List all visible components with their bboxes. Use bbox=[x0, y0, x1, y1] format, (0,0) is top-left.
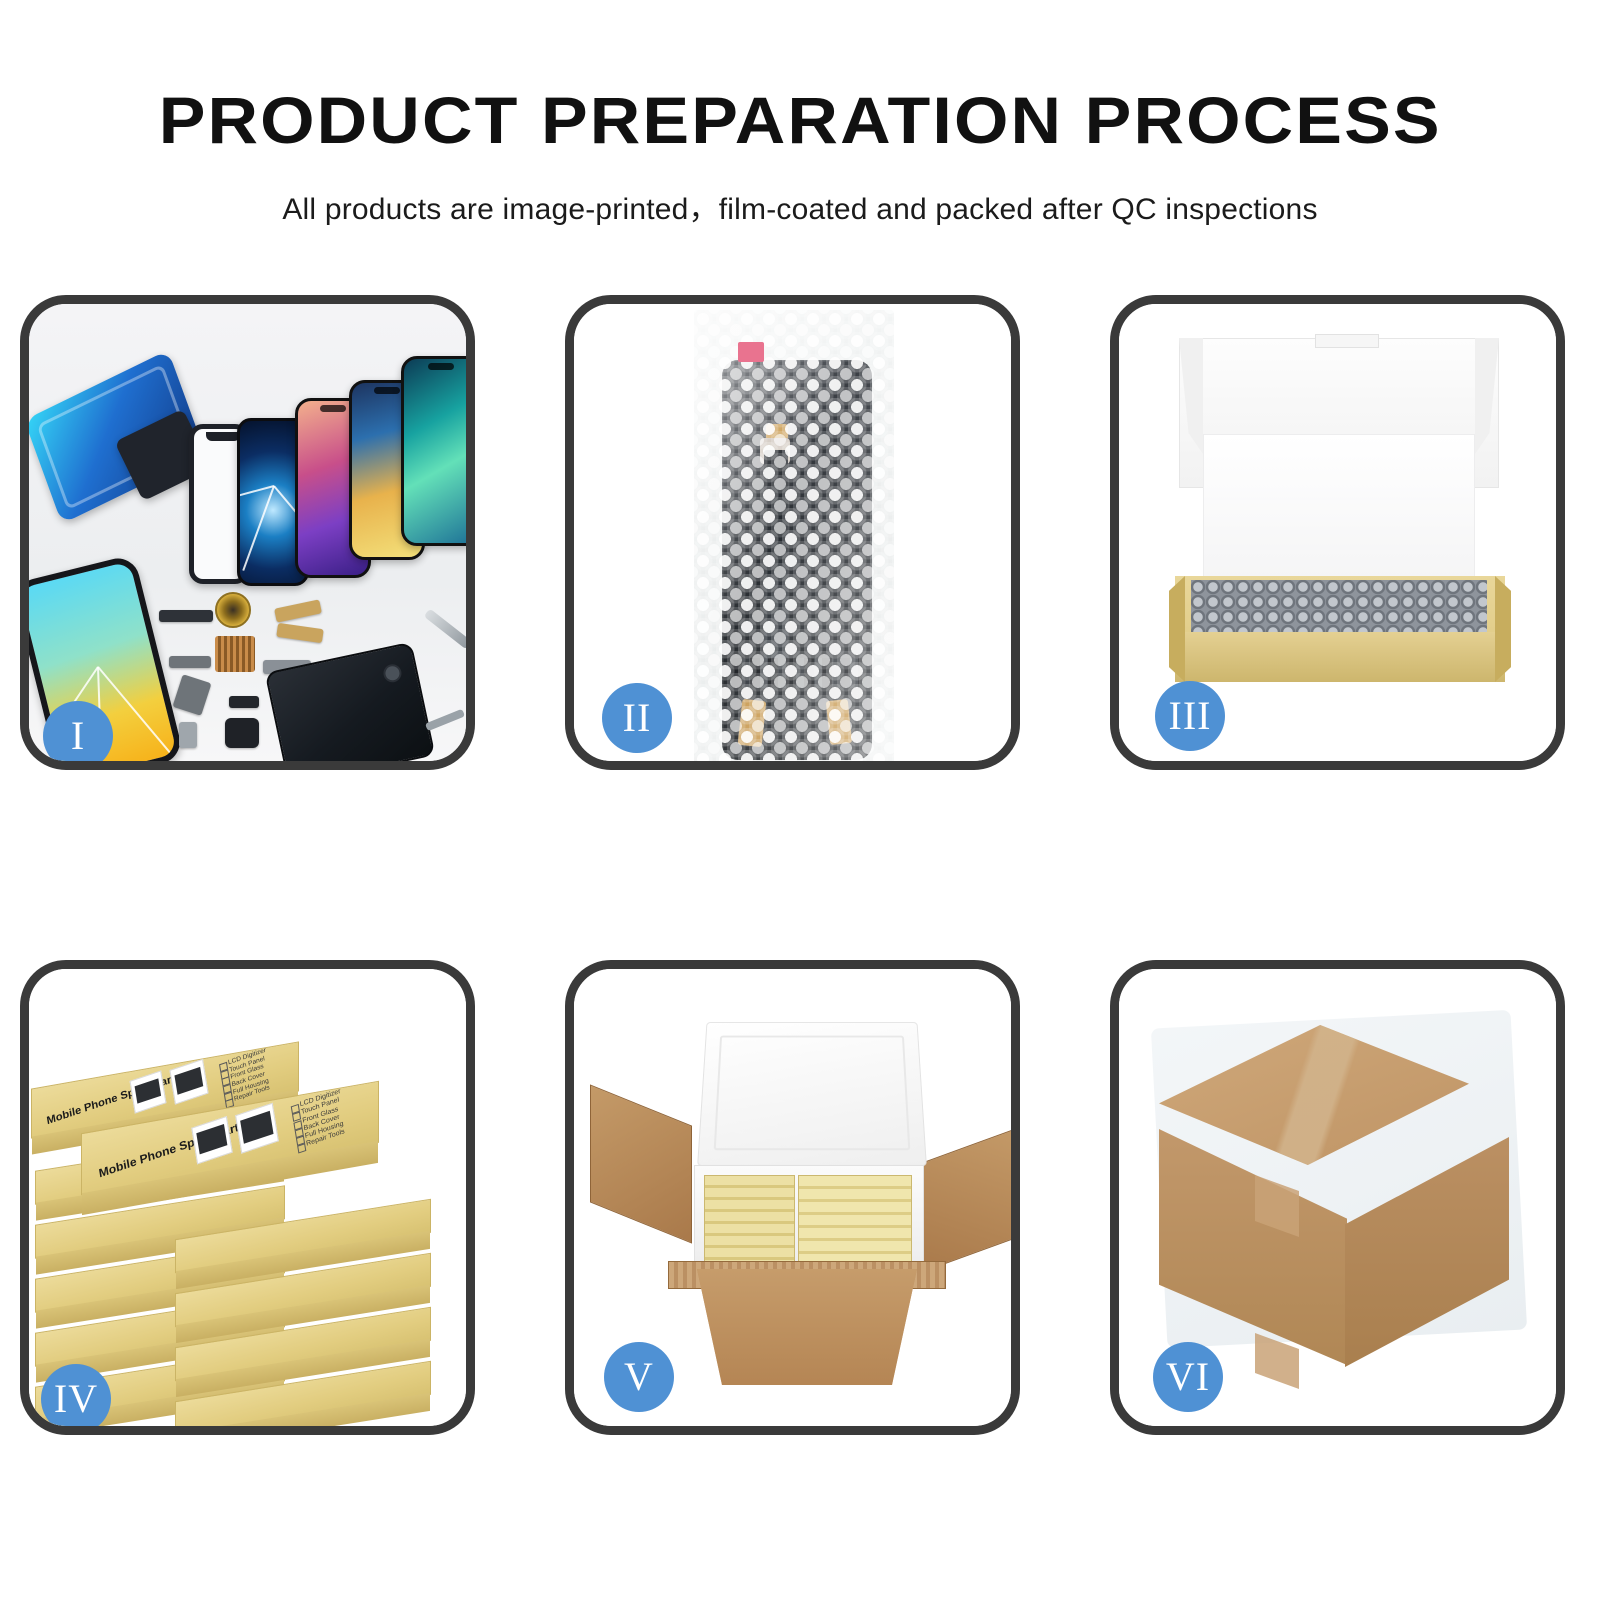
bubble-wrap-package bbox=[694, 310, 894, 761]
step-badge-3: III bbox=[1155, 681, 1225, 751]
step-panel-5[interactable]: V bbox=[565, 960, 1020, 1435]
foam-box-lid bbox=[697, 1022, 927, 1166]
pink-label-tab bbox=[738, 342, 764, 362]
step-badge-6: VI bbox=[1153, 1342, 1223, 1412]
step-1-image bbox=[29, 304, 466, 761]
step-panel-6[interactable]: VI bbox=[1110, 960, 1565, 1435]
step-panel-4[interactable]: Mobile Phone Spare Parts LCD Digitizer T… bbox=[20, 960, 475, 1435]
box-checklist-2: LCD Digitizer Touch Panel Front Glass Ba… bbox=[290, 1088, 347, 1152]
wireless-charging-coil-part bbox=[215, 592, 251, 628]
page-header: PRODUCT PREPARATION PROCESS All products… bbox=[0, 0, 1600, 250]
step-panel-2[interactable]: II bbox=[565, 295, 1020, 770]
green-gradient-phone-display bbox=[401, 356, 466, 546]
gold-box-left-edge bbox=[1169, 576, 1185, 682]
step-badge-1: I bbox=[43, 701, 113, 770]
process-row-bottom: Mobile Phone Spare Parts LCD Digitizer T… bbox=[20, 960, 1580, 1435]
earpiece-mesh-part bbox=[159, 610, 213, 622]
page-title: PRODUCT PREPARATION PROCESS bbox=[159, 82, 1442, 158]
grey-bubble-wrap-fill bbox=[1191, 580, 1487, 636]
gold-box-right-edge bbox=[1495, 576, 1511, 682]
box-thumbnail-2b bbox=[235, 1103, 279, 1154]
step-badge-5: V bbox=[604, 1342, 674, 1412]
white-foam-sheet bbox=[1203, 434, 1475, 594]
step-4-image: Mobile Phone Spare Parts LCD Digitizer T… bbox=[29, 969, 466, 1426]
box-thumbnail-1b bbox=[169, 1059, 208, 1105]
step-badge-2: II bbox=[602, 683, 672, 753]
box-thumbnail-2a bbox=[191, 1116, 233, 1164]
connector-part-a bbox=[169, 656, 211, 668]
process-row-top: I bbox=[20, 295, 1580, 770]
camera-module-part bbox=[229, 696, 259, 708]
step-panel-1[interactable]: I bbox=[20, 295, 475, 770]
gold-boxes-inside-foam bbox=[704, 1175, 912, 1263]
step-panel-3[interactable]: III bbox=[1110, 295, 1565, 770]
plastic-sheen-overlay bbox=[694, 310, 894, 761]
battery-part bbox=[225, 718, 259, 748]
carton-body bbox=[682, 1269, 932, 1385]
sim-tray-part bbox=[179, 722, 197, 748]
page-subtitle: All products are image-printed，film-coat… bbox=[282, 184, 1317, 228]
box-thumbnail-1a bbox=[130, 1070, 167, 1113]
ic-chip-part bbox=[215, 636, 255, 672]
process-step-grid: I bbox=[20, 295, 1580, 1435]
gold-box-front-wall bbox=[1175, 632, 1505, 682]
step-badge-4: IV bbox=[41, 1364, 111, 1434]
box-lid-tab bbox=[1315, 334, 1379, 348]
